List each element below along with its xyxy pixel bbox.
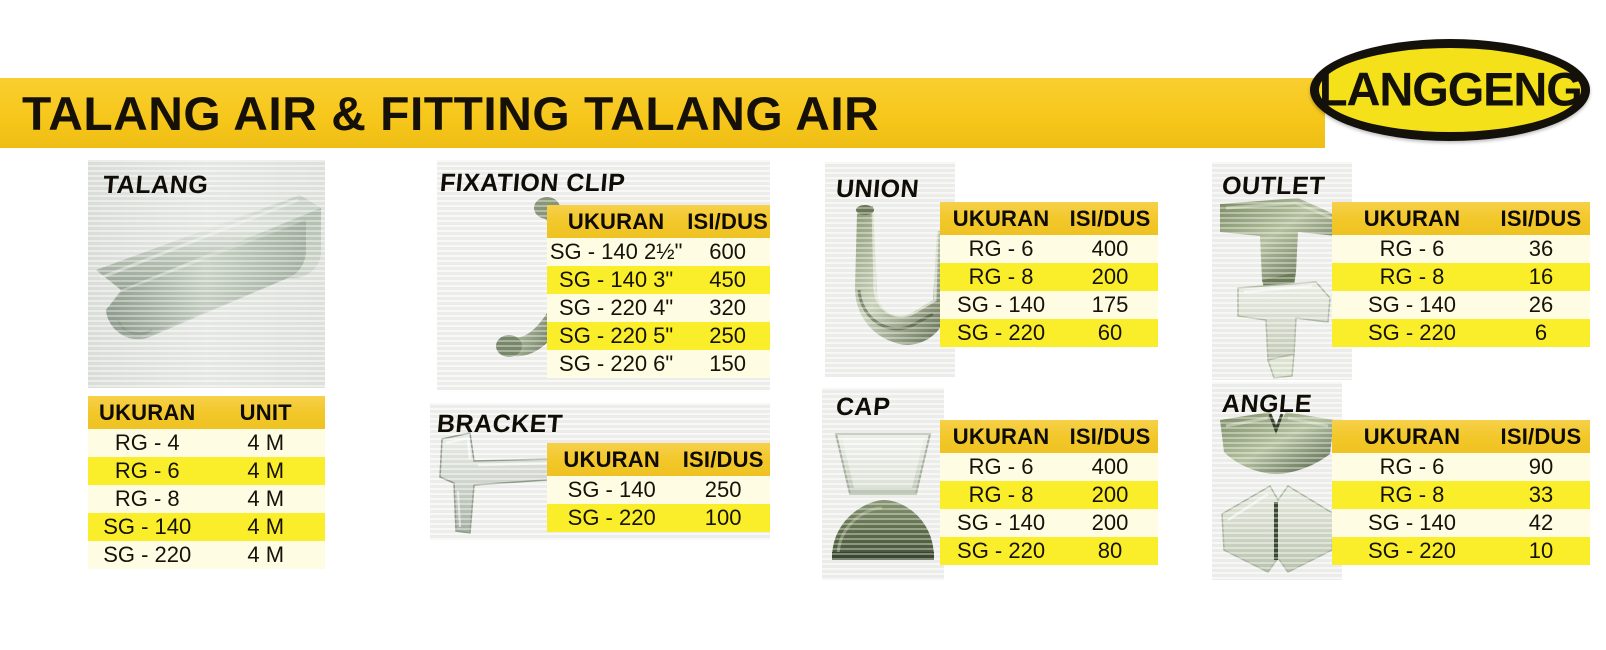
cell-ukuran: RG - 8 [1332, 263, 1492, 291]
col-header-isidus: ISI/DUS [685, 205, 770, 238]
cell-ukuran: RG - 6 [88, 457, 207, 485]
cell-value: 33 [1492, 481, 1590, 509]
table-row: RG - 690 [1332, 453, 1590, 481]
table-header-row: UKURAN UNIT [88, 396, 325, 429]
section-title-outlet: OUTLET [1221, 172, 1327, 201]
table-row: RG - 6400 [940, 453, 1158, 481]
table-row: RG - 8200 [940, 481, 1158, 509]
table-row: SG - 22010 [1332, 537, 1590, 565]
cell-value: 450 [685, 266, 770, 294]
logo-ellipse-shape: LANGGENG [1310, 39, 1590, 141]
table-row: SG - 22060 [940, 319, 1158, 347]
col-header-isidus: ISI/DUS [1492, 202, 1590, 235]
table-row: SG - 140200 [940, 509, 1158, 537]
cell-ukuran: RG - 6 [1332, 235, 1492, 263]
cell-ukuran: SG - 220 5" [547, 322, 685, 350]
col-header-isidus: ISI/DUS [1492, 420, 1590, 453]
cell-value: 175 [1062, 291, 1158, 319]
table-header-row: UKURAN ISI/DUS [940, 202, 1158, 235]
logo-text: LANGGENG [1319, 63, 1582, 117]
table-row: SG - 140 3"450 [547, 266, 770, 294]
table-row: RG - 636 [1332, 235, 1590, 263]
table-angle: UKURAN ISI/DUS RG - 690 RG - 833 SG - 14… [1332, 420, 1590, 565]
cell-value: 200 [1062, 263, 1158, 291]
cell-value: 90 [1492, 453, 1590, 481]
cell-ukuran: SG - 220 4" [547, 294, 685, 322]
cell-value: 6 [1492, 319, 1590, 347]
col-header-ukuran: UKURAN [940, 420, 1062, 453]
cell-ukuran: SG - 140 2½" [547, 238, 685, 266]
cell-value: 250 [676, 476, 770, 504]
table-row: SG - 220 5"250 [547, 322, 770, 350]
table-row: SG - 140175 [940, 291, 1158, 319]
col-header-ukuran: UKURAN [1332, 202, 1492, 235]
cell-ukuran: RG - 6 [1332, 453, 1492, 481]
table-cap: UKURAN ISI/DUS RG - 6400 RG - 8200 SG - … [940, 420, 1158, 565]
col-header-ukuran: UKURAN [547, 205, 685, 238]
col-header-isidus: ISI/DUS [676, 443, 770, 476]
table-header-row: UKURAN ISI/DUS [547, 443, 770, 476]
table-row: RG - 84 M [88, 485, 325, 513]
col-header-isidus: ISI/DUS [1062, 202, 1158, 235]
table-row: RG - 8200 [940, 263, 1158, 291]
table-header-row: UKURAN ISI/DUS [547, 205, 770, 238]
table-row: SG - 2204 M [88, 541, 325, 569]
table-header-row: UKURAN ISI/DUS [1332, 420, 1590, 453]
col-header-ukuran: UKURAN [1332, 420, 1492, 453]
table-row: SG - 220100 [547, 504, 770, 532]
cell-value: 4 M [207, 457, 326, 485]
table-outlet: UKURAN ISI/DUS RG - 636 RG - 816 SG - 14… [1332, 202, 1590, 347]
col-header-ukuran: UKURAN [547, 443, 676, 476]
cell-ukuran: SG - 140 [1332, 291, 1492, 319]
cell-value: 200 [1062, 509, 1158, 537]
cell-ukuran: SG - 140 [940, 509, 1062, 537]
cell-ukuran: RG - 4 [88, 429, 207, 457]
section-title-cap: CAP [835, 393, 892, 422]
cell-value: 400 [1062, 235, 1158, 263]
cell-ukuran: SG - 220 6" [547, 350, 685, 378]
table-union: UKURAN ISI/DUS RG - 6400 RG - 8200 SG - … [940, 202, 1158, 347]
table-row: SG - 220 6"150 [547, 350, 770, 378]
cell-ukuran: RG - 8 [1332, 481, 1492, 509]
table-row: SG - 140 2½"600 [547, 238, 770, 266]
cell-ukuran: RG - 8 [940, 481, 1062, 509]
table-header-row: UKURAN ISI/DUS [940, 420, 1158, 453]
table-bracket: UKURAN ISI/DUS SG - 140250 SG - 220100 [547, 443, 770, 532]
table-row: SG - 14042 [1332, 509, 1590, 537]
table-row: SG - 220 4"320 [547, 294, 770, 322]
cell-value: 400 [1062, 453, 1158, 481]
section-title-bracket: BRACKET [436, 410, 564, 439]
table-header-row: UKURAN ISI/DUS [1332, 202, 1590, 235]
cell-ukuran: RG - 8 [88, 485, 207, 513]
cell-value: 26 [1492, 291, 1590, 319]
cell-ukuran: SG - 140 [1332, 509, 1492, 537]
cell-ukuran: SG - 220 [1332, 537, 1492, 565]
cell-ukuran: SG - 140 [547, 476, 676, 504]
table-row: RG - 64 M [88, 457, 325, 485]
col-header-isidus: ISI/DUS [1062, 420, 1158, 453]
section-title-fixation-clip: FIXATION CLIP [439, 169, 627, 198]
cell-value: 200 [1062, 481, 1158, 509]
cell-value: 4 M [207, 541, 326, 569]
col-header-ukuran: UKURAN [940, 202, 1062, 235]
table-talang: UKURAN UNIT RG - 44 M RG - 64 M RG - 84 … [88, 396, 325, 569]
col-header-ukuran: UKURAN [88, 396, 207, 429]
table-row: RG - 833 [1332, 481, 1590, 509]
page-header-banner: TALANG AIR & FITTING TALANG AIR [0, 78, 1325, 148]
page-title: TALANG AIR & FITTING TALANG AIR [22, 86, 879, 141]
section-title-union: UNION [835, 175, 921, 204]
table-fixation-clip: UKURAN ISI/DUS SG - 140 2½"600 SG - 140 … [547, 205, 770, 378]
cell-value: 250 [685, 322, 770, 350]
cell-value: 320 [685, 294, 770, 322]
table-row: SG - 14026 [1332, 291, 1590, 319]
cell-ukuran: SG - 140 3" [547, 266, 685, 294]
cell-ukuran: SG - 220 [1332, 319, 1492, 347]
cell-ukuran: RG - 6 [940, 453, 1062, 481]
cell-value: 16 [1492, 263, 1590, 291]
cell-ukuran: SG - 220 [940, 319, 1062, 347]
cell-value: 600 [685, 238, 770, 266]
table-row: RG - 816 [1332, 263, 1590, 291]
table-row: SG - 2206 [1332, 319, 1590, 347]
cell-value: 150 [685, 350, 770, 378]
col-header-unit: UNIT [207, 396, 326, 429]
section-title-talang: TALANG [102, 171, 210, 200]
table-row: RG - 6400 [940, 235, 1158, 263]
cell-ukuran: RG - 8 [940, 263, 1062, 291]
cell-ukuran: SG - 220 [547, 504, 676, 532]
cell-value: 42 [1492, 509, 1590, 537]
cell-ukuran: SG - 220 [88, 541, 207, 569]
cell-value: 4 M [207, 429, 326, 457]
cell-ukuran: RG - 6 [940, 235, 1062, 263]
section-title-angle: ANGLE [1221, 390, 1314, 419]
table-row: SG - 22080 [940, 537, 1158, 565]
cell-value: 36 [1492, 235, 1590, 263]
cell-value: 4 M [207, 485, 326, 513]
cell-value: 60 [1062, 319, 1158, 347]
table-row: RG - 44 M [88, 429, 325, 457]
table-row: SG - 140250 [547, 476, 770, 504]
cell-ukuran: SG - 220 [940, 537, 1062, 565]
cell-value: 10 [1492, 537, 1590, 565]
brand-logo: LANGGENG [1310, 39, 1590, 141]
table-row: SG - 1404 M [88, 513, 325, 541]
cell-value: 80 [1062, 537, 1158, 565]
cell-ukuran: SG - 140 [940, 291, 1062, 319]
cell-value: 4 M [207, 513, 326, 541]
cell-value: 100 [676, 504, 770, 532]
cell-ukuran: SG - 140 [88, 513, 207, 541]
